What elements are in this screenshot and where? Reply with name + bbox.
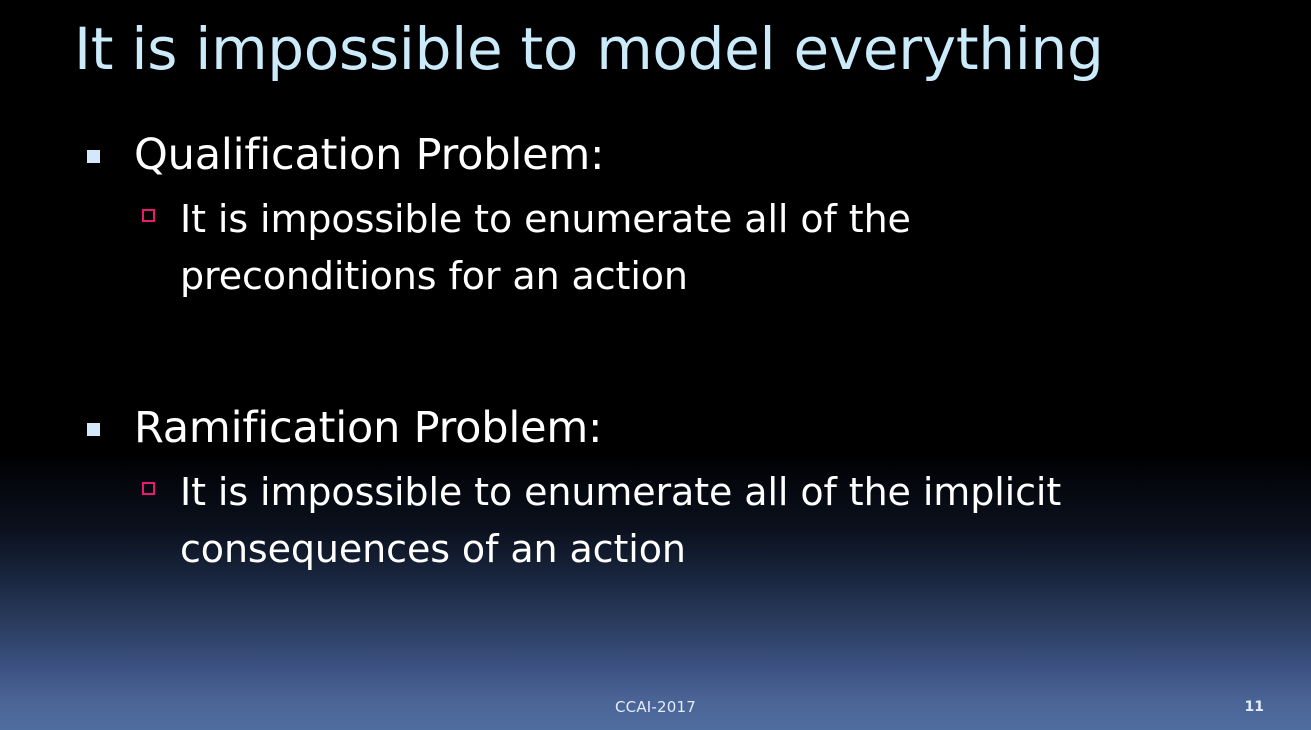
filled-square-bullet-icon [87,150,100,163]
bullet-text: Ramification Problem: [134,403,602,453]
slide-title: It is impossible to model everything [74,18,1254,81]
filled-square-bullet-icon [87,423,100,436]
hollow-square-bullet-icon [142,209,155,222]
presentation-slide: It is impossible to model everything Qua… [0,0,1311,730]
slide-body-content: Qualification Problem: It is impossible … [0,128,1311,578]
hollow-square-bullet-icon [142,482,155,495]
bullet-level1-ramification: Ramification Problem: [0,401,1311,456]
section-spacer [0,305,1311,401]
bullet-level1-qualification: Qualification Problem: [0,128,1311,183]
bullet-text: It is impossible to enumerate all of the… [180,191,1170,305]
slide-page-number: 11 [1245,699,1264,715]
bullet-level2-consequences: It is impossible to enumerate all of the… [0,464,1311,578]
bullet-text: It is impossible to enumerate all of the… [180,464,1170,578]
bullet-level2-preconditions: It is impossible to enumerate all of the… [0,191,1311,305]
slide-footer-text: CCAI-2017 [0,698,1311,716]
bullet-text: Qualification Problem: [134,130,604,180]
